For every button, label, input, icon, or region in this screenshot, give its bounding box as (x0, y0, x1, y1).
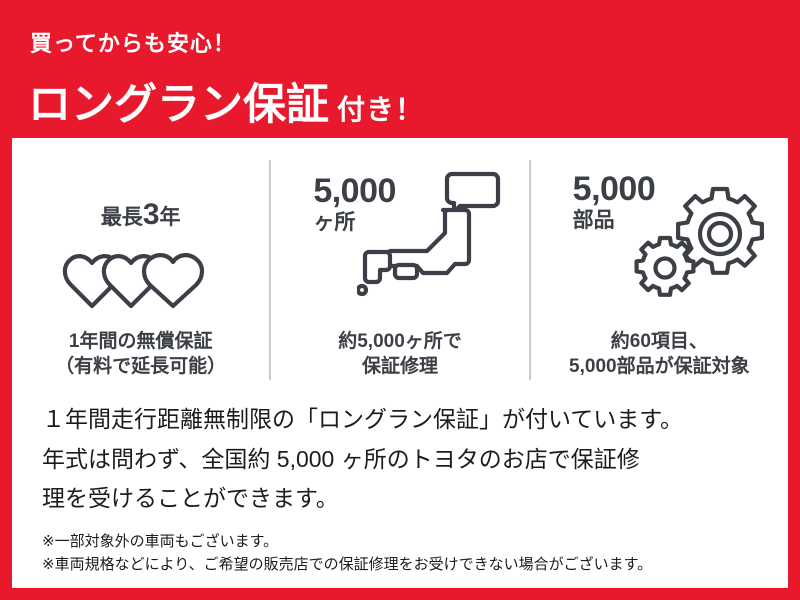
feature-1-caption-line1: 1年間の無償保証 (12, 329, 269, 355)
feature-column-warranty-period: 最長3年 1年間の無償保証 （有料で延長可能） (12, 160, 269, 380)
japan-map-icon (357, 168, 507, 303)
feature-1-stat: 最長3年 (12, 200, 269, 230)
banner-header: 買ってからも安心！ ロングラン保証付き！ (0, 0, 800, 138)
feature-1-caption: 1年間の無償保証 （有料で延長可能） (12, 329, 269, 380)
feature-1-stat-prefix: 最長 (101, 206, 143, 229)
feature-column-covered-parts: 5,000 部品 (529, 160, 788, 380)
body-copy-line1: １年間走行距離無制限の「ロングラン保証」が付いています。 (42, 400, 772, 440)
feature-1-stat-suffix: 年 (160, 206, 181, 229)
gears-icon (632, 186, 772, 311)
body-copy-line2: 年式は問わず、全国約 5,000 ヶ所のトヨタのお店で保証修 (42, 440, 772, 480)
header-title-suffix: 付き！ (337, 94, 424, 125)
header-title: ロングラン保証付き！ (28, 70, 424, 132)
feature-column-service-locations: 5,000 ヶ所 (269, 160, 528, 380)
feature-3-caption-line2: 5,000部品が保証対象 (531, 354, 788, 380)
feature-3-caption: 約60項目、 5,000部品が保証対象 (531, 329, 788, 380)
footnote-2: ※車両規格などにより、ご希望の販売店での保証修理をお受けできない場合がございます… (42, 553, 782, 576)
body-copy-line3: 理を受けることができます。 (42, 479, 772, 519)
footnotes: ※一部対象外の車両もございます。 ※車両規格などにより、ご希望の販売店での保証修… (42, 530, 782, 577)
body-copy: １年間走行距離無制限の「ロングラン保証」が付いています。 年式は問わず、全国約 … (42, 400, 772, 519)
header-title-main: ロングラン保証 (28, 81, 329, 129)
header-kicker-text: 買ってからも安心！ (30, 26, 236, 58)
feature-3-caption-line1: 約60項目、 (531, 329, 788, 355)
footnote-1: ※一部対象外の車両もございます。 (42, 530, 782, 553)
feature-2-caption-line2: 保証修理 (271, 354, 528, 380)
long-run-warranty-banner: 買ってからも安心！ ロングラン保証付き！ 最長3年 (0, 0, 800, 600)
feature-2-caption: 約5,000ヶ所で 保証修理 (271, 329, 528, 380)
feature-1-caption-line2: （有料で延長可能） (12, 354, 269, 380)
three-hearts-icon (12, 244, 269, 315)
feature-1-stat-number: 3 (143, 198, 160, 231)
feature-2-caption-line1: 約5,000ヶ所で (271, 329, 528, 355)
content-panel: 最長3年 1年間の無償保証 （有料で延長可能） (12, 138, 788, 588)
feature-columns: 最長3年 1年間の無償保証 （有料で延長可能） (12, 160, 788, 380)
